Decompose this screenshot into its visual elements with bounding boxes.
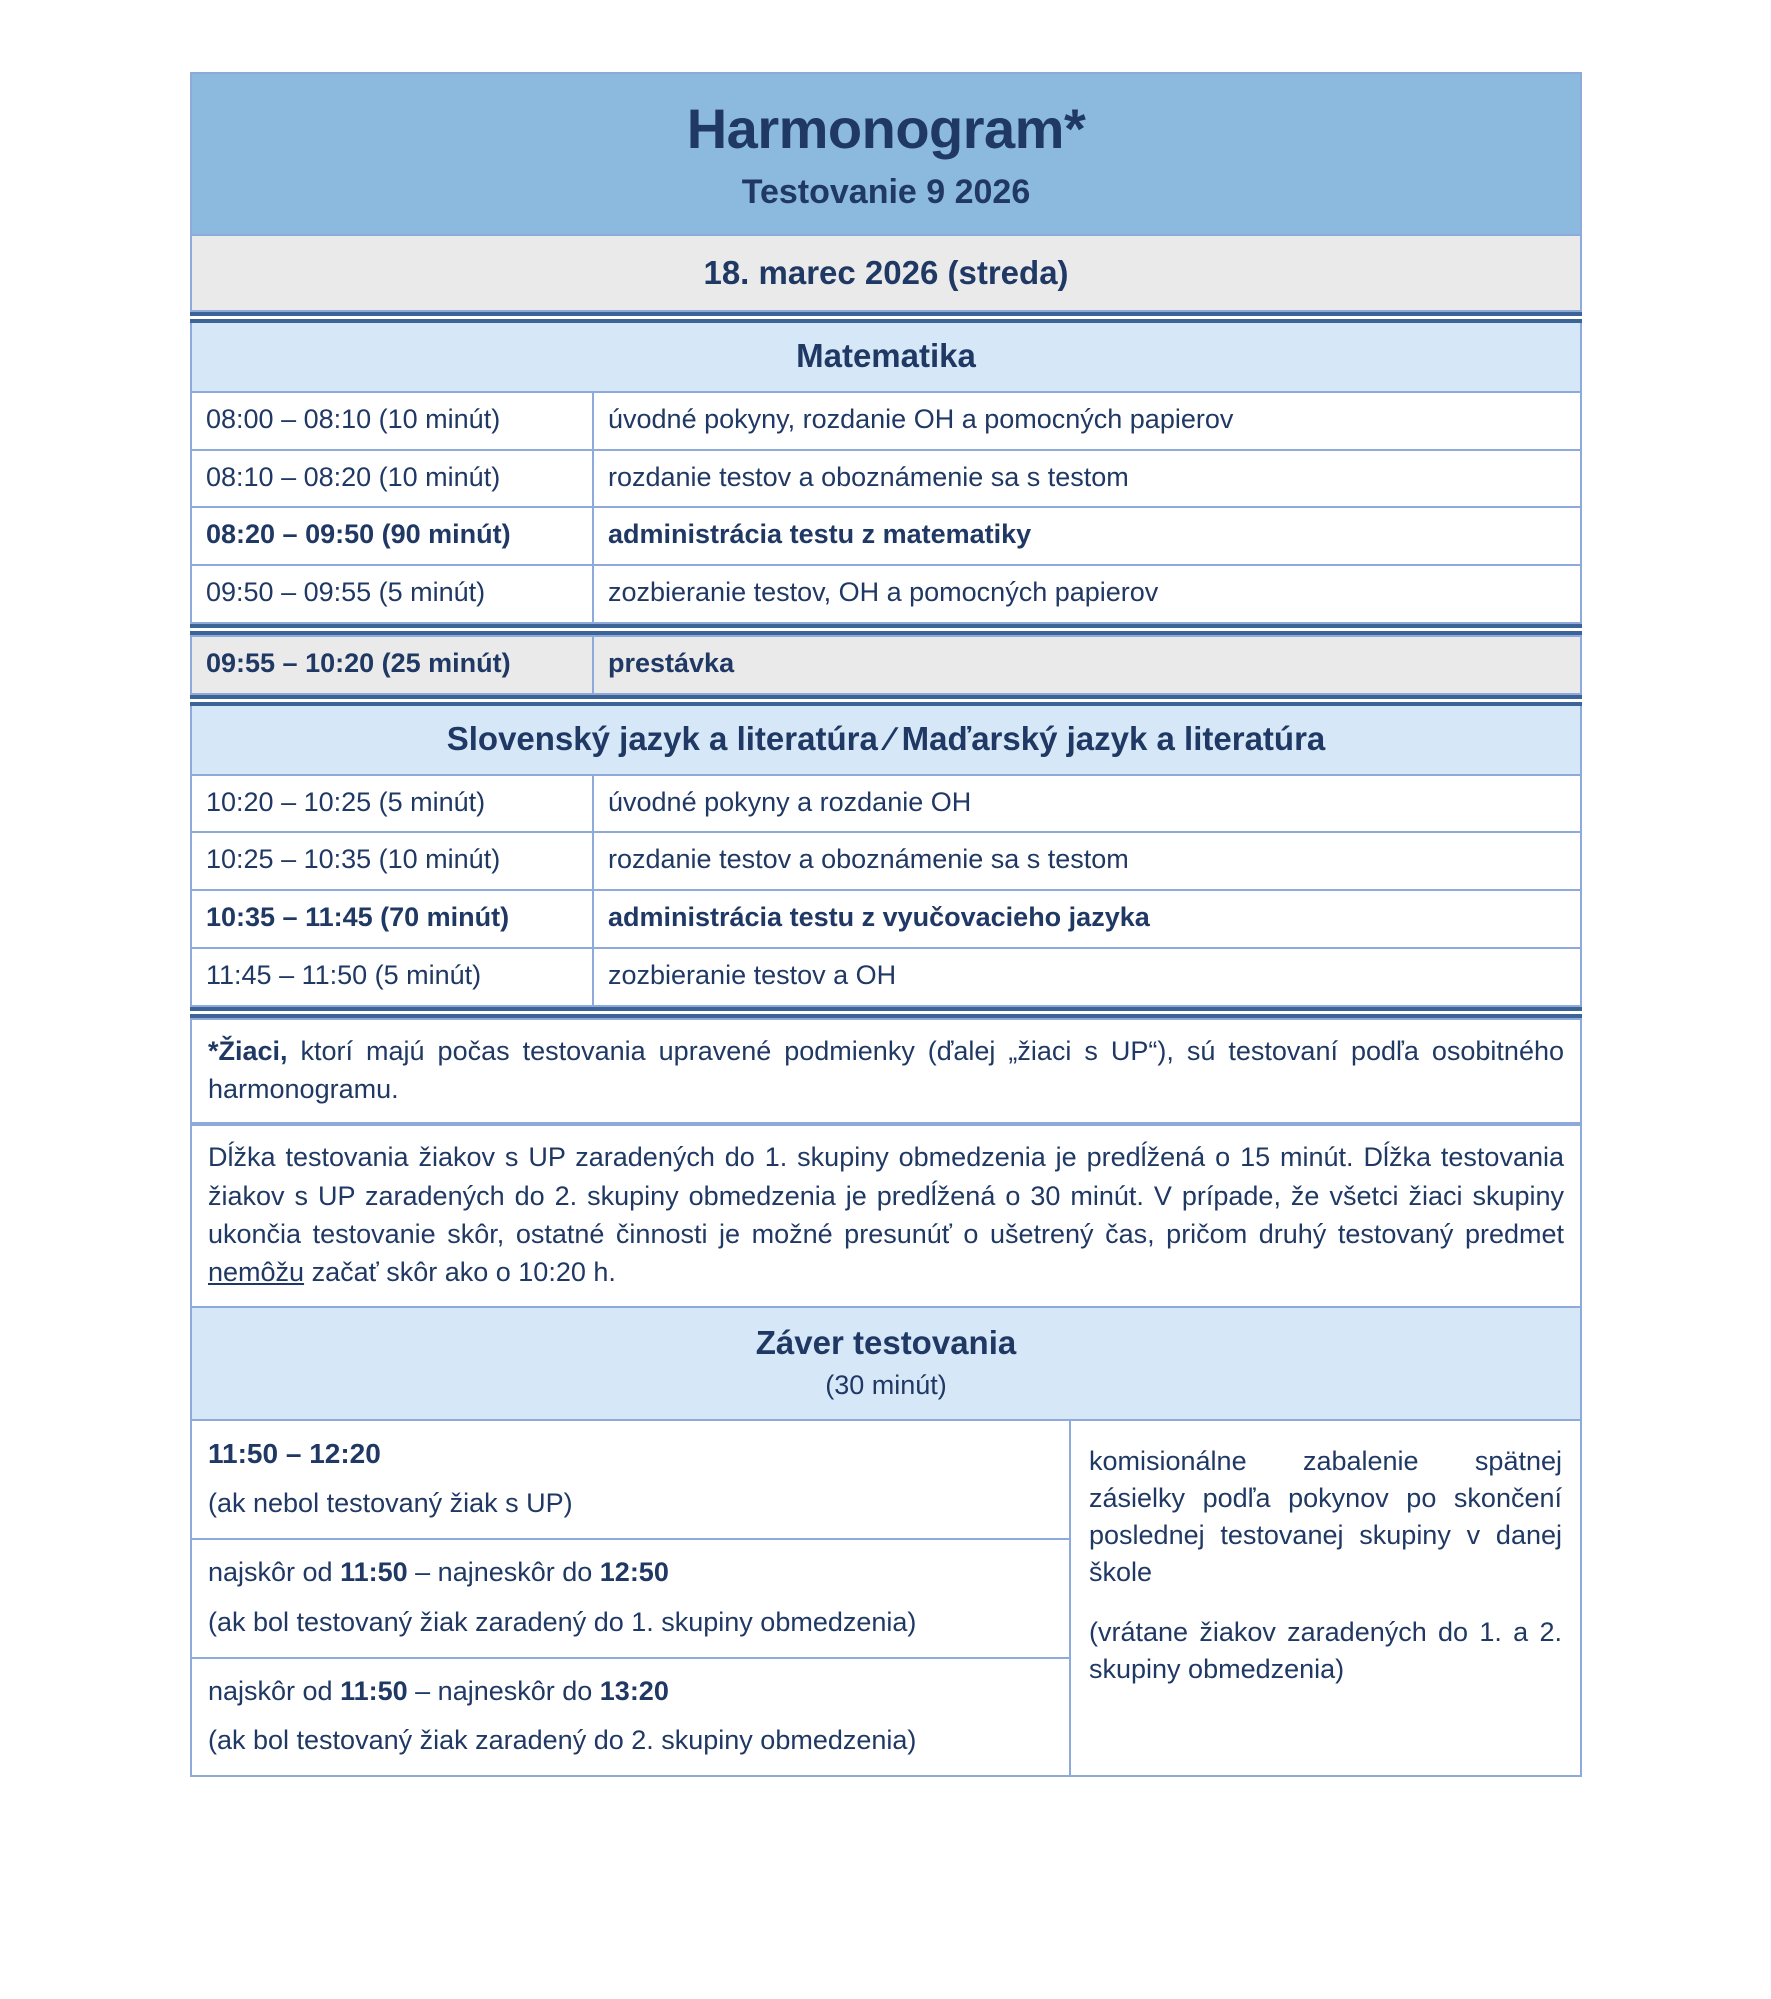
- row-time: 08:10 – 08:20 (10 minút): [191, 450, 593, 508]
- closing-time-3-mid: – najneskôr do: [408, 1676, 600, 1706]
- zaver-title: Záver testovania: [202, 1324, 1570, 1362]
- section-heading-jazyk: Slovenský jazyk a literatúra ∕ Maďarský …: [190, 706, 1582, 774]
- table-row: 11:45 – 11:50 (5 minút) zozbieranie test…: [191, 948, 1581, 1006]
- row-time: 11:45 – 11:50 (5 minút): [191, 948, 593, 1006]
- row-activity: rozdanie testov a oboznámenie sa s testo…: [593, 832, 1581, 890]
- closing-time-3-prefix: najskôr od: [208, 1676, 340, 1706]
- closing-right-cell: komisionálne zabalenie spätnej zásielky …: [1070, 1420, 1581, 1777]
- closing-time-3: najskôr od 11:50 – najneskôr do 13:20: [208, 1673, 1053, 1710]
- closing-right-note: (vrátane žiakov zaradených do 1. a 2. sk…: [1089, 1614, 1562, 1689]
- closing-time-3-start: 11:50: [340, 1676, 408, 1706]
- table-row: 08:20 – 09:50 (90 minút) administrácia t…: [191, 507, 1581, 565]
- extension-underlined-word: nemôžu: [208, 1257, 304, 1287]
- footnote-lead: *Žiaci,: [208, 1036, 288, 1066]
- closing-left-cell-1: 11:50 – 12:20 (ak nebol testovaný žiak s…: [191, 1420, 1070, 1540]
- extension-text-part1: Dĺžka testovania žiakov s UP zaradených …: [208, 1142, 1564, 1249]
- row-time: 10:20 – 10:25 (5 minút): [191, 775, 593, 833]
- table-row: 09:50 – 09:55 (5 minút) zozbieranie test…: [191, 565, 1581, 623]
- row-time: 10:35 – 11:45 (70 minút): [191, 890, 593, 948]
- closing-condition-2: (ak bol testovaný žiak zaradený do 1. sk…: [208, 1604, 1053, 1641]
- closing-time-2-mid: – najneskôr do: [408, 1557, 600, 1587]
- table-row: 10:25 – 10:35 (10 minút) rozdanie testov…: [191, 832, 1581, 890]
- title-band: Harmonogram* Testovanie 9 2026: [190, 72, 1582, 236]
- table-row: 08:00 – 08:10 (10 minút) úvodné pokyny, …: [191, 392, 1581, 450]
- closing-time-2-start: 11:50: [340, 1557, 408, 1587]
- closing-time-1: 11:50 – 12:20: [208, 1435, 1053, 1474]
- closing-time-3-end: 13:20: [600, 1676, 669, 1706]
- row-activity: úvodné pokyny a rozdanie OH: [593, 775, 1581, 833]
- row-time: 10:25 – 10:35 (10 minút): [191, 832, 593, 890]
- page-subtitle: Testovanie 9 2026: [202, 173, 1570, 212]
- row-time: 09:55 – 10:20 (25 minút): [191, 636, 593, 694]
- footnote-students-up: *Žiaci, ktorí majú počas testovania upra…: [190, 1018, 1582, 1125]
- row-activity: zozbieranie testov a OH: [593, 948, 1581, 1006]
- row-time: 08:20 – 09:50 (90 minút): [191, 507, 593, 565]
- row-activity: administrácia testu z matematiky: [593, 507, 1581, 565]
- table-row-break: 09:55 – 10:20 (25 minút) prestávka: [191, 636, 1581, 694]
- table-row: 10:35 – 11:45 (70 minút) administrácia t…: [191, 890, 1581, 948]
- closing-right-text: komisionálne zabalenie spätnej zásielky …: [1089, 1443, 1562, 1592]
- closing-table: 11:50 – 12:20 (ak nebol testovaný žiak s…: [190, 1419, 1582, 1778]
- table-row: 08:10 – 08:20 (10 minút) rozdanie testov…: [191, 450, 1581, 508]
- row-time: 09:50 – 09:55 (5 minút): [191, 565, 593, 623]
- schedule-table-matematika: 08:00 – 08:10 (10 minút) úvodné pokyny, …: [190, 391, 1582, 624]
- document-page: Harmonogram* Testovanie 9 2026 18. marec…: [0, 0, 1771, 1999]
- row-activity: zozbieranie testov, OH a pomocných papie…: [593, 565, 1581, 623]
- separator-before-notes: [190, 1007, 1582, 1018]
- zaver-duration: (30 minút): [202, 1370, 1570, 1401]
- row-activity: prestávka: [593, 636, 1581, 694]
- row-activity: administrácia testu z vyučovacieho jazyk…: [593, 890, 1581, 948]
- footnote-rest: ktorí majú počas testovania upravené pod…: [208, 1036, 1564, 1104]
- extension-text-part2: začať skôr ako o 10:20 h.: [304, 1257, 616, 1287]
- note-duration-extension: Dĺžka testovania žiakov s UP zaradených …: [190, 1124, 1582, 1307]
- schedule-table-break: 09:55 – 10:20 (25 minút) prestávka: [190, 635, 1582, 695]
- schedule-table-jazyk: 10:20 – 10:25 (5 minút) úvodné pokyny a …: [190, 774, 1582, 1007]
- closing-left-cell-2: najskôr od 11:50 – najneskôr do 12:50 (a…: [191, 1539, 1070, 1658]
- closing-condition-3: (ak bol testovaný žiak zaradený do 2. sk…: [208, 1722, 1053, 1759]
- closing-row-1: 11:50 – 12:20 (ak nebol testovaný žiak s…: [191, 1420, 1581, 1540]
- separator-before-break: [190, 624, 1582, 635]
- section-heading-zaver: Záver testovania (30 minút): [190, 1308, 1582, 1419]
- page-title: Harmonogram*: [202, 100, 1570, 159]
- closing-time-2: najskôr od 11:50 – najneskôr do 12:50: [208, 1554, 1053, 1591]
- separator-after-break: [190, 695, 1582, 706]
- harmonogram-sheet: Harmonogram* Testovanie 9 2026 18. marec…: [190, 72, 1582, 1777]
- date-band: 18. marec 2026 (streda): [190, 236, 1582, 312]
- closing-time-2-prefix: najskôr od: [208, 1557, 340, 1587]
- row-activity: rozdanie testov a oboznámenie sa s testo…: [593, 450, 1581, 508]
- closing-time-2-end: 12:50: [600, 1557, 669, 1587]
- separator-after-date: [190, 312, 1582, 323]
- table-row: 10:20 – 10:25 (5 minút) úvodné pokyny a …: [191, 775, 1581, 833]
- row-activity: úvodné pokyny, rozdanie OH a pomocných p…: [593, 392, 1581, 450]
- closing-condition-1: (ak nebol testovaný žiak s UP): [208, 1485, 1053, 1522]
- section-heading-matematika: Matematika: [190, 323, 1582, 391]
- closing-left-cell-3: najskôr od 11:50 – najneskôr do 13:20 (a…: [191, 1658, 1070, 1777]
- row-time: 08:00 – 08:10 (10 minút): [191, 392, 593, 450]
